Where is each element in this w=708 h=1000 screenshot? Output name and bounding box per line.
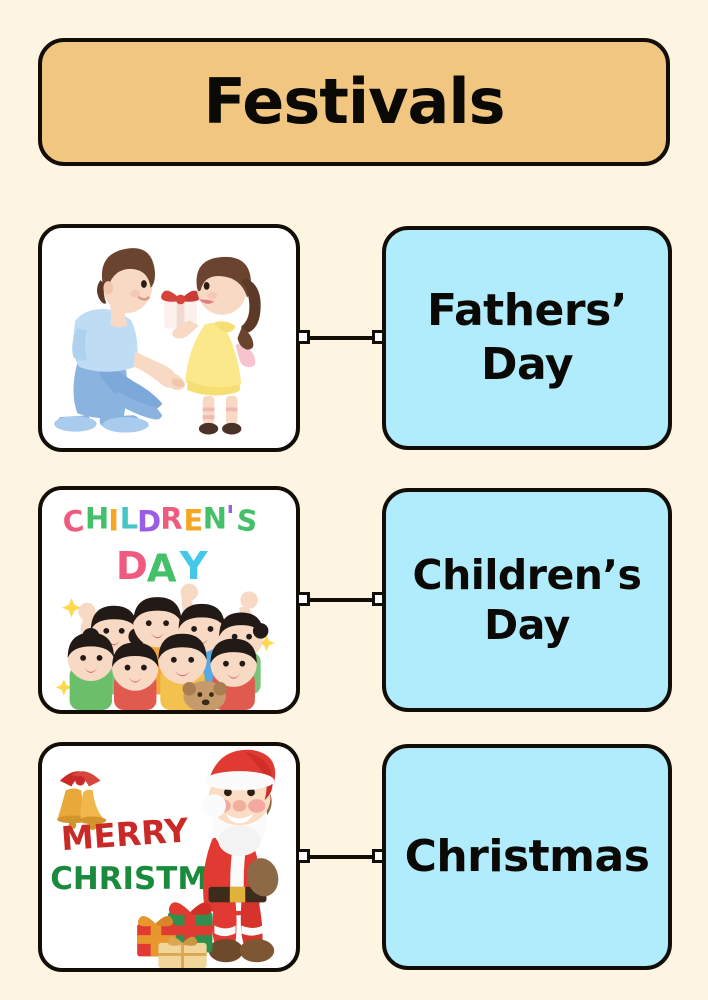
label-text-fathers-day: Fathers’ Day — [396, 284, 658, 391]
connector-handle-left[interactable] — [296, 592, 310, 606]
svg-text:A: A — [147, 547, 177, 592]
label-text-christmas: Christmas — [405, 830, 650, 884]
festival-row-fathers-day: Fathers’ Day — [0, 224, 708, 452]
label-text-childrens-day: Children’s Day — [396, 550, 658, 650]
puppy — [183, 681, 227, 710]
label-card-christmas[interactable]: Christmas — [382, 744, 672, 970]
label-card-childrens-day[interactable]: Children’s Day — [382, 488, 672, 712]
childrens-day-word-art: C H I L D R E N ' S — [61, 500, 259, 540]
father-daughter-gift-illustration — [42, 228, 296, 448]
svg-text:R: R — [160, 502, 182, 536]
svg-text:S: S — [235, 503, 259, 539]
svg-text:D: D — [137, 504, 161, 538]
merry-christmas-santa-illustration: MERRY CHRISTMAS — [42, 746, 296, 968]
connector-line — [304, 336, 378, 340]
connector-christmas — [296, 849, 386, 865]
svg-text:D: D — [116, 544, 148, 589]
svg-text:N: N — [203, 502, 227, 536]
festival-row-christmas: MERRY CHRISTMAS — [0, 742, 708, 972]
childrens-day-illustration: C H I L D R E N ' S D A Y — [42, 490, 296, 710]
connector-line — [304, 855, 378, 859]
connector-childrens-day — [296, 592, 386, 608]
label-card-fathers-day[interactable]: Fathers’ Day — [382, 226, 672, 450]
gift-box — [161, 291, 200, 329]
image-card-christmas[interactable]: MERRY CHRISTMAS — [38, 742, 300, 972]
svg-text:': ' — [226, 500, 235, 534]
svg-text:H: H — [85, 502, 109, 536]
svg-text:C: C — [61, 503, 86, 539]
svg-text:L: L — [120, 502, 138, 536]
svg-text:E: E — [183, 504, 203, 538]
connector-handle-left[interactable] — [296, 330, 310, 344]
page-title: Festivals — [203, 71, 504, 133]
connector-fathers-day — [296, 330, 386, 346]
festival-row-childrens-day: C H I L D R E N ' S D A Y — [0, 486, 708, 714]
image-card-fathers-day[interactable] — [38, 224, 300, 452]
image-card-childrens-day[interactable]: C H I L D R E N ' S D A Y — [38, 486, 300, 714]
children-group — [68, 597, 269, 710]
connector-line — [304, 598, 378, 602]
page-title-card: Festivals — [38, 38, 670, 166]
connector-handle-left[interactable] — [296, 849, 310, 863]
svg-text:Y: Y — [179, 544, 209, 589]
day-word-art: D A Y — [116, 544, 209, 592]
svg-text:I: I — [108, 504, 119, 538]
